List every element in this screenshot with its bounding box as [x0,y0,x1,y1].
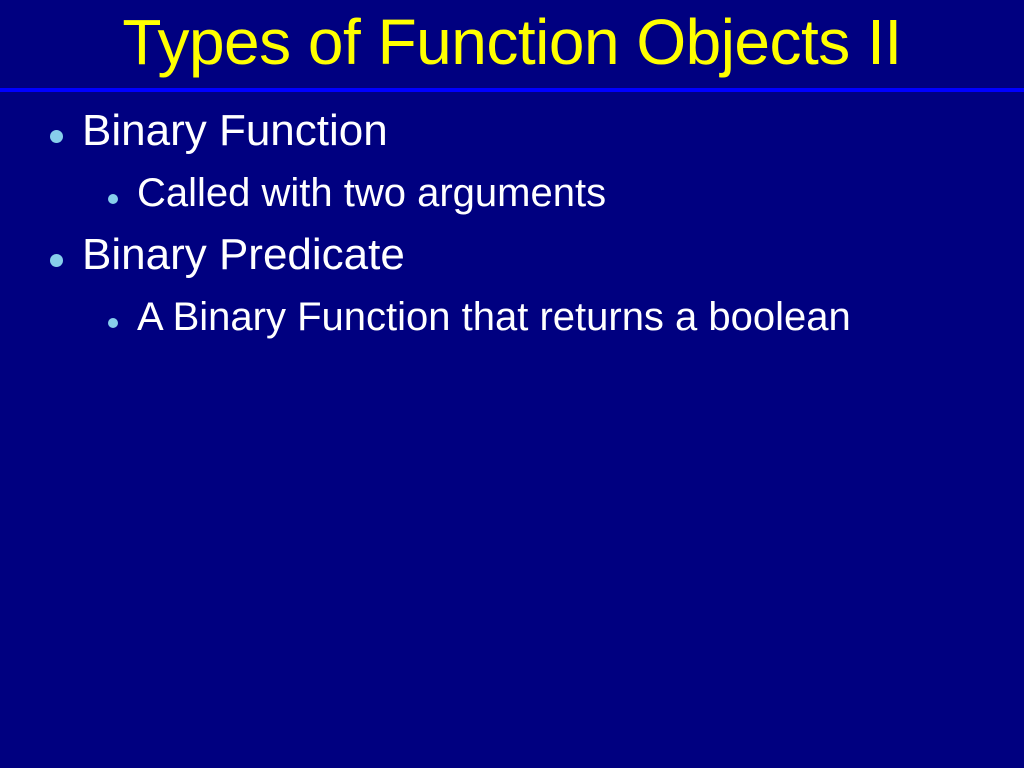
bullet-icon [108,194,118,204]
bullet-icon [50,254,63,267]
bullet-icon [108,318,118,328]
title-divider [0,88,1024,92]
list-item: Binary Predicate [0,224,1024,286]
list-item-label: A Binary Function that returns a boolean [137,286,894,348]
list-item: Called with two arguments [0,162,1024,224]
title-bar: Types of Function Objects II [0,0,1024,88]
list-item-label: Binary Predicate [82,224,1024,286]
list-item: A Binary Function that returns a boolean [0,286,1024,348]
slide: Types of Function Objects II Binary Func… [0,0,1024,768]
bullet-icon [50,130,63,143]
list-item: Binary Function [0,100,1024,162]
list-item-label: Called with two arguments [137,162,894,224]
slide-body: Binary Function Called with two argument… [0,100,1024,348]
page-title: Types of Function Objects II [0,0,1024,88]
list-item-label: Binary Function [82,100,1024,162]
